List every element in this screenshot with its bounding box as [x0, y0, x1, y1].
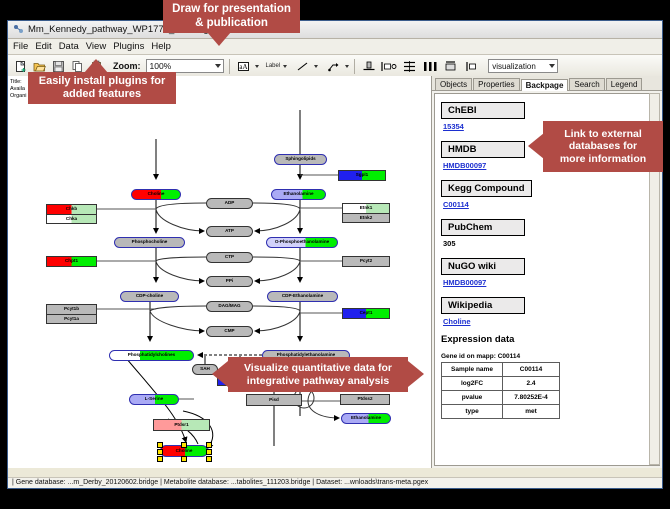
node-pisd[interactable]: Pisd: [246, 394, 302, 406]
node-label: L-Serine: [145, 397, 163, 402]
chevron-down-icon: [215, 64, 221, 68]
node-label: Sgpl1: [356, 173, 369, 178]
chevron-down-icon[interactable]: [345, 65, 349, 68]
node-label: Etnk1: [360, 206, 373, 211]
tab-search[interactable]: Search: [569, 78, 604, 90]
node-label: Phosphatidylcholines: [128, 353, 175, 358]
expr-key: pvalue: [442, 391, 503, 405]
db-link-nugo-wiki[interactable]: HMDB00097: [443, 278, 659, 287]
order-back-icon[interactable]: [463, 58, 482, 75]
expr-key: log2FC: [442, 377, 503, 391]
chevron-down-icon[interactable]: [255, 65, 259, 68]
node-ppi[interactable]: PPi: [206, 276, 253, 287]
selection-handle[interactable]: [206, 449, 212, 455]
node-label: CTP: [225, 255, 234, 260]
toolbar-separator: [229, 59, 230, 74]
callout-easily-install-plugins: Easily install plugins for added feature…: [28, 72, 176, 104]
expr-key: Sample name: [442, 363, 503, 377]
db-header-hmdb: HMDB: [441, 141, 525, 158]
selection-handle[interactable]: [206, 442, 212, 448]
line-tool-icon[interactable]: [294, 58, 311, 75]
order-front-icon[interactable]: [442, 58, 461, 75]
node-label: CMP: [224, 329, 234, 334]
svg-text:aA: aA: [239, 63, 247, 71]
node-label: Pisd: [269, 398, 279, 403]
node-sgpl1[interactable]: Sgpl1: [338, 170, 386, 181]
side-panel-tabs: Objects Properties Backpage Search Legen…: [432, 76, 662, 91]
table-row: log2FC 2.4: [442, 377, 560, 391]
pathvisio-app-icon: [13, 24, 24, 35]
node-ethanolamine-top[interactable]: Ethanolamine: [271, 189, 326, 200]
gene-id-on-mapp: Gene id on mapp: C00114: [441, 353, 659, 360]
node-label: Chka: [66, 217, 77, 222]
node-cdp-ethanolamine[interactable]: CDP-Ethanolamine: [267, 291, 338, 302]
selection-handle[interactable]: [181, 456, 187, 462]
node-adp[interactable]: ADP: [206, 198, 253, 209]
expr-value: met: [503, 405, 560, 419]
node-label: Cept1: [360, 311, 373, 316]
callout-arrow-down-icon: [207, 32, 231, 46]
selection-handle[interactable]: [206, 456, 212, 462]
menu-edit[interactable]: Edit: [35, 41, 51, 52]
node-ptdss2[interactable]: Ptdss2: [340, 394, 390, 405]
expr-value: C00114: [503, 363, 560, 377]
db-header-kegg-compound: Kegg Compound: [441, 180, 532, 197]
menu-view[interactable]: View: [86, 41, 106, 52]
node-cdp-choline[interactable]: CDP-choline: [120, 291, 179, 302]
node-dag-mag[interactable]: DAG/MAG: [206, 301, 253, 312]
new-file-icon[interactable]: [12, 58, 29, 75]
zoom-label: Zoom:: [113, 61, 141, 71]
node-label: ADP: [225, 201, 235, 206]
table-row: Sample name C00114: [442, 363, 560, 377]
db-header-wikipedia: Wikipedia: [441, 297, 525, 314]
status-bar: | Gene database: ...m_Derby_20120602.bri…: [8, 468, 662, 488]
node-label: Ptdsr1: [174, 423, 188, 428]
node-label: Choline: [148, 192, 165, 197]
chevron-down-icon[interactable]: [283, 65, 287, 68]
visualization-value: visualization: [492, 62, 536, 71]
node-label: PPi: [226, 279, 233, 284]
expression-data-heading: Expression data: [441, 334, 659, 345]
align-top-icon[interactable]: [360, 58, 377, 75]
node-pcyt1a[interactable]: Pcyt1a: [46, 314, 97, 324]
node-label: DAG/MAG: [218, 304, 240, 309]
table-row: type met: [442, 405, 560, 419]
table-row: pvalue 7.80252E-4: [442, 391, 560, 405]
node-o-phosphoethanolamine[interactable]: O-Phosphoethanolamine: [266, 237, 338, 248]
visualization-select[interactable]: visualization: [488, 59, 558, 73]
node-label: Ethanolamine: [351, 416, 381, 421]
status-text: | Gene database: ...m_Derby_20120602.bri…: [8, 477, 662, 488]
node-label: Phosphocholine: [132, 240, 168, 245]
node-chpt1[interactable]: Chpt1: [46, 256, 97, 267]
callout-link-to-external-db: Link to external databases for more info…: [543, 121, 663, 172]
node-label: Sphingolipids: [285, 157, 315, 162]
node-etnk2[interactable]: Etnk2: [342, 213, 390, 223]
callout-arrow-up-icon: [84, 59, 108, 73]
tab-legend[interactable]: Legend: [606, 78, 643, 90]
node-ethanolamine-right[interactable]: Ethanolamine: [341, 413, 391, 424]
toolbar-separator: [354, 59, 355, 74]
tab-properties[interactable]: Properties: [473, 78, 519, 90]
menu-help[interactable]: Help: [151, 41, 171, 52]
callout-draw-for-publication: Draw for presentation & publication: [163, 0, 300, 33]
node-label: Ptdss2: [357, 397, 372, 402]
pathway-connectors: [8, 76, 431, 468]
node-label: Etnk2: [360, 216, 373, 221]
db-header-pubchem: PubChem: [441, 219, 525, 236]
callout-text: Draw for presentation & publication: [172, 3, 291, 29]
selection-handle[interactable]: [157, 442, 163, 448]
node-label: ATP: [225, 229, 234, 234]
db-link-kegg-compound[interactable]: C00114: [443, 200, 659, 209]
pathway-organism-label: Organi: [10, 93, 27, 100]
stack-vertical-icon[interactable]: [400, 58, 419, 75]
node-chkb[interactable]: Chkb: [46, 204, 97, 214]
callout-text: Easily install plugins for added feature…: [39, 75, 166, 100]
expr-value: 7.80252E-4: [503, 391, 560, 405]
chevron-down-icon: [549, 64, 555, 68]
menu-data[interactable]: Data: [59, 41, 79, 52]
node-label: Pcyt2: [360, 259, 372, 264]
callout-arrow-left-icon: [212, 361, 228, 387]
node-l-serine-left[interactable]: L-Serine: [129, 394, 179, 405]
db-link-wikipedia[interactable]: Choline: [443, 317, 659, 326]
chevron-down-icon[interactable]: [314, 65, 318, 68]
tab-objects[interactable]: Objects: [435, 78, 472, 90]
pathway-title-label: Title:: [10, 79, 27, 86]
selection-handle[interactable]: [157, 456, 163, 462]
callout-visualize-quantitative: Visualize quantitative data for integrat…: [228, 357, 408, 392]
pathway-canvas[interactable]: Title: Availa Organi: [8, 76, 432, 468]
label-tool-label[interactable]: Label: [266, 63, 281, 69]
node-label: Choline: [176, 449, 193, 454]
node-cmp[interactable]: CMP: [206, 326, 253, 337]
node-chka[interactable]: Chka: [46, 214, 97, 224]
node-phosphocholine[interactable]: Phosphocholine: [114, 237, 185, 248]
distribute-icon[interactable]: [421, 58, 440, 75]
node-ctp[interactable]: CTP: [206, 252, 253, 263]
expr-value: 2.4: [503, 377, 560, 391]
zoom-select[interactable]: 100%: [146, 59, 224, 73]
node-label: Chpt1: [65, 259, 78, 264]
menu-plugins[interactable]: Plugins: [113, 41, 144, 52]
node-label: Chkb: [66, 207, 77, 212]
node-label: CDP-choline: [136, 294, 163, 299]
db-value-pubchem: 305: [443, 239, 659, 248]
node-phosphatidylcholines[interactable]: Phosphatidylcholines: [109, 350, 194, 361]
title-bar: Mm_Kennedy_pathway_WP1771_45176.gpml: [8, 21, 662, 39]
interaction-tool-icon[interactable]: [325, 58, 342, 75]
selection-handle[interactable]: [181, 442, 187, 448]
db-header-chebi: ChEBI: [441, 102, 525, 119]
expression-table: Sample name C00114 log2FC 2.4 pvalue 7.8…: [441, 362, 560, 419]
zoom-value: 100%: [150, 61, 172, 71]
node-pcyt1b[interactable]: Pcyt1b: [46, 304, 97, 314]
status-gap: [8, 468, 662, 477]
node-atp[interactable]: ATP: [206, 226, 253, 237]
node-label: O-Phosphoethanolamine: [275, 240, 329, 245]
expr-key: type: [442, 405, 503, 419]
node-label: Pcyt1a: [64, 317, 79, 322]
node-ptdsr1[interactable]: Ptdsr1: [153, 419, 210, 431]
tab-backpage[interactable]: Backpage: [521, 79, 569, 91]
node-sphingolipids[interactable]: Sphingolipids: [274, 154, 327, 165]
node-choline-top[interactable]: Choline: [131, 189, 181, 200]
callout-text: Visualize quantitative data for integrat…: [244, 362, 392, 386]
node-label: Pcyt1b: [64, 307, 79, 312]
selection-handle[interactable]: [157, 449, 163, 455]
pathway-available-label: Availa: [10, 86, 27, 93]
node-cept1[interactable]: Cept1: [342, 308, 390, 319]
node-pcyt2[interactable]: Pcyt2: [342, 256, 390, 267]
pathway-info-labels: Title: Availa Organi: [10, 79, 27, 100]
node-label: Ethanolamine: [283, 192, 313, 197]
font-tool-icon[interactable]: aA: [235, 58, 252, 75]
callout-text: Link to external databases for more info…: [560, 128, 646, 164]
menu-bar: File Edit Data View Plugins Help: [8, 39, 662, 55]
node-etnk1[interactable]: Etnk1: [342, 203, 390, 213]
callout-arrow-left-icon: [528, 133, 544, 159]
db-header-nugo-wiki: NuGO wiki: [441, 258, 525, 275]
node-label: SAH: [200, 367, 210, 372]
menu-file[interactable]: File: [13, 41, 28, 52]
node-label: CDP-Ethanolamine: [282, 294, 323, 299]
align-left-icon[interactable]: [379, 58, 398, 75]
callout-arrow-right-icon: [408, 361, 424, 387]
